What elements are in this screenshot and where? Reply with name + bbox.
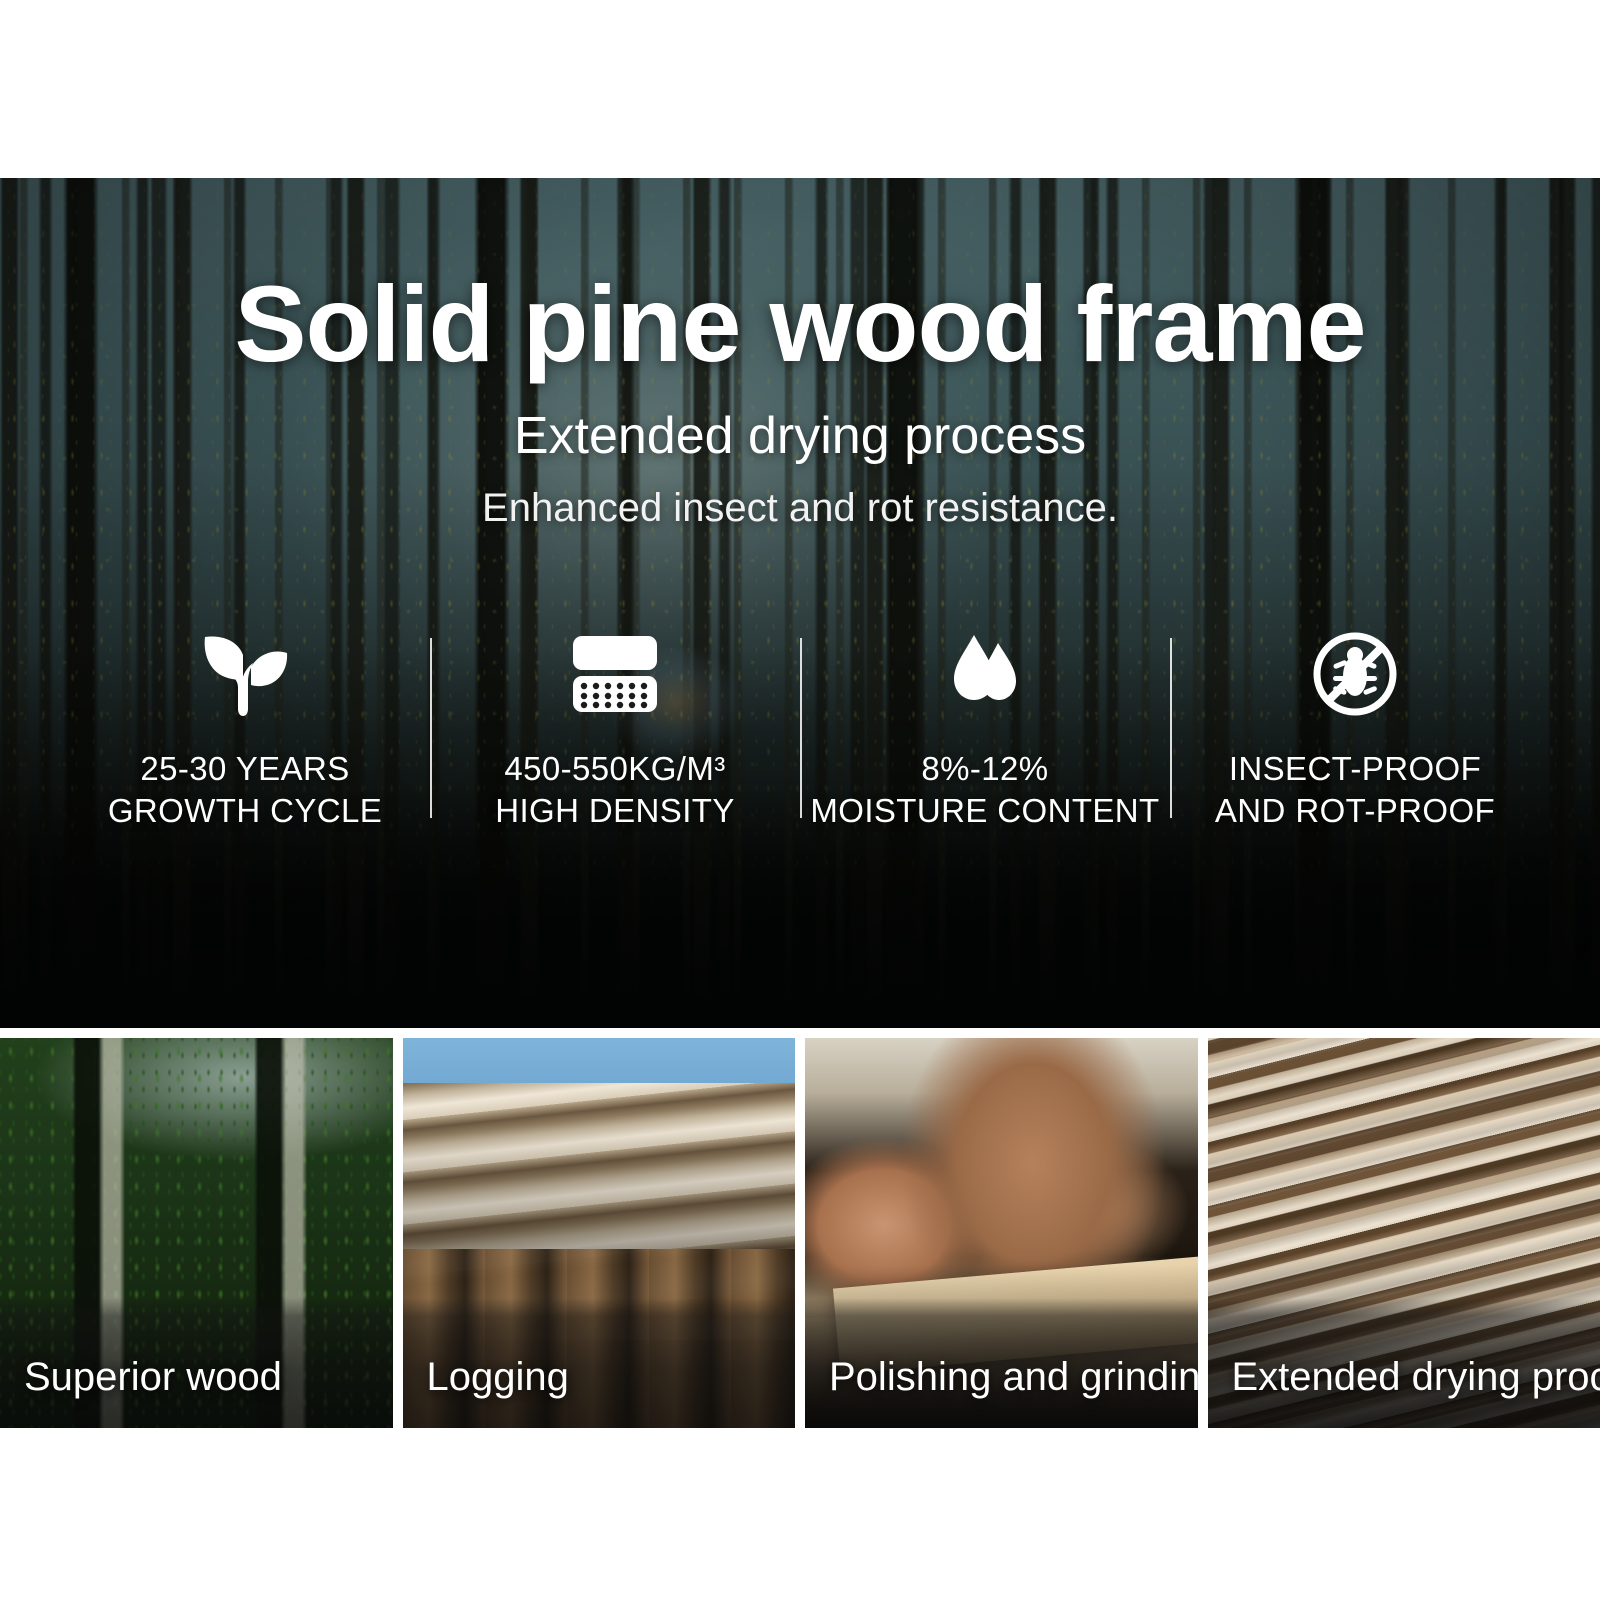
feature-value: 25-30 YEARS	[140, 750, 349, 787]
feature-label: 8%-12% MOISTURE CONTENT	[810, 748, 1159, 832]
gallery-panel-polishing: Polishing and grinding	[805, 1038, 1198, 1428]
feature-label: INSECT-PROOF AND ROT-PROOF	[1215, 748, 1495, 832]
feature-caption: MOISTURE CONTENT	[810, 792, 1159, 829]
feature-label: 450-550KG/M³ HIGH DENSITY	[495, 748, 735, 832]
feature-high-density: 450-550KG/M³ HIGH DENSITY	[430, 628, 800, 832]
feature-caption: HIGH DENSITY	[495, 792, 735, 829]
infographic-page: Solid pine wood frame Extended drying pr…	[0, 0, 1600, 1600]
panel-caption: Extended drying process	[1232, 1355, 1591, 1400]
gallery-panel-superior-wood: Superior wood	[0, 1038, 393, 1428]
feature-value: 8%-12%	[921, 750, 1048, 787]
feature-insect-rot-proof: INSECT-PROOF AND ROT-PROOF	[1170, 628, 1540, 832]
insect-proof-icon	[1309, 628, 1401, 720]
feature-growth-cycle: 25-30 YEARS GROWTH CYCLE	[60, 628, 430, 832]
panel-caption: Superior wood	[24, 1355, 383, 1400]
hero-content: Solid pine wood frame Extended drying pr…	[0, 178, 1600, 1028]
hero-subtitle: Extended drying process	[0, 406, 1600, 466]
feature-caption: GROWTH CYCLE	[108, 792, 382, 829]
leaf-sprout-icon	[199, 628, 291, 720]
feature-value: INSECT-PROOF	[1229, 750, 1481, 787]
page-title: Solid pine wood frame	[0, 270, 1600, 378]
feature-value: 450-550KG/M³	[504, 750, 725, 787]
process-gallery: Superior wood Logging Polishing and grin…	[0, 1038, 1600, 1428]
feature-caption: AND ROT-PROOF	[1215, 792, 1495, 829]
feature-label: 25-30 YEARS GROWTH CYCLE	[108, 748, 382, 832]
feature-list: 25-30 YEARS GROWTH CYCLE	[60, 628, 1540, 838]
panel-caption: Polishing and grinding	[829, 1355, 1188, 1400]
hero-description: Enhanced insect and rot resistance.	[0, 486, 1600, 531]
water-drops-icon	[940, 628, 1030, 720]
panel-caption: Logging	[427, 1355, 786, 1400]
gallery-panel-drying: Extended drying process	[1208, 1038, 1600, 1428]
gallery-panel-logging: Logging	[403, 1038, 796, 1428]
hero-banner: Solid pine wood frame Extended drying pr…	[0, 178, 1600, 1028]
feature-moisture-content: 8%-12% MOISTURE CONTENT	[800, 628, 1170, 832]
density-block-icon	[567, 628, 663, 720]
